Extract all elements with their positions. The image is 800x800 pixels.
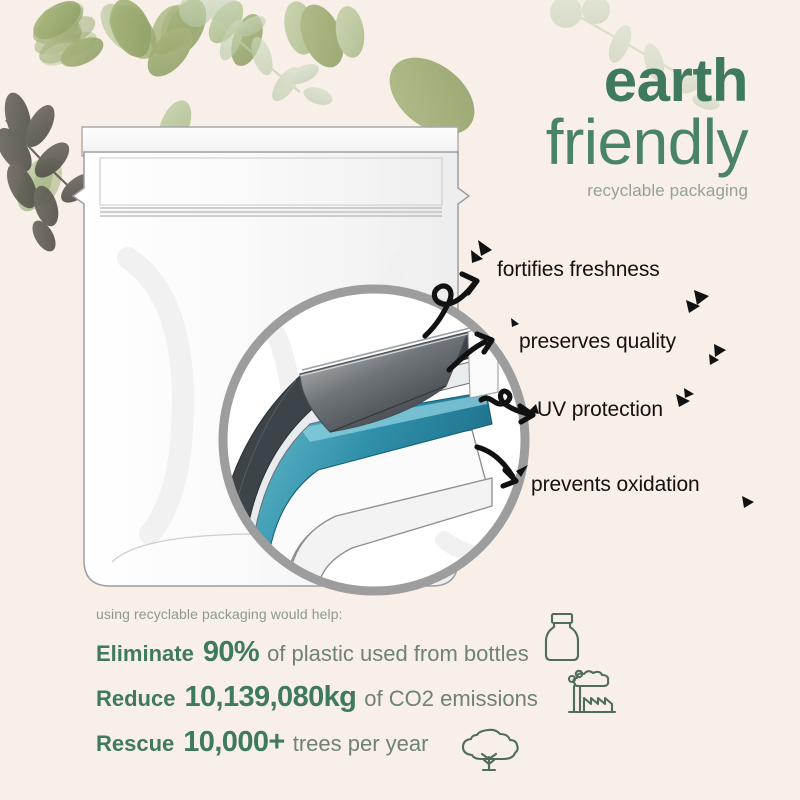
stat-verb: Eliminate [96,641,194,667]
stat-row: Eliminate 90% of plastic used from bottl… [96,636,756,669]
stats-section: using recyclable packaging would help: E… [96,606,756,771]
stat-tail: of plastic used from bottles [267,641,529,667]
stat-tail: of CO2 emissions [364,686,538,712]
callout-preserves-quality: preserves quality [519,330,676,354]
stat-row: Rescue 10,000+ trees per year [96,726,756,759]
headline-subtitle: recyclable packaging [546,183,748,199]
stat-value: 10,000+ [183,726,284,759]
stat-tail: trees per year [293,731,429,757]
stat-row: Reduce 10,139,080kg of CO2 emissions [96,681,756,714]
stats-intro: using recyclable packaging would help: [96,606,756,622]
stat-value: 10,139,080kg [184,681,356,714]
headline-line-1: earth [546,52,748,110]
stat-verb: Rescue [96,731,174,757]
stat-verb: Reduce [96,686,175,712]
callout-fortifies-freshness: fortifies freshness [497,258,660,282]
page-title: earth friendly recyclable packaging [546,52,748,199]
poster: earth friendly recyclable packaging fort… [0,0,800,800]
callout-uv-protection: UV protection [537,398,663,422]
stat-value: 90% [203,636,259,669]
callout-prevents-oxidation: prevents oxidation [531,473,700,497]
headline-line-2: friendly [546,112,748,173]
